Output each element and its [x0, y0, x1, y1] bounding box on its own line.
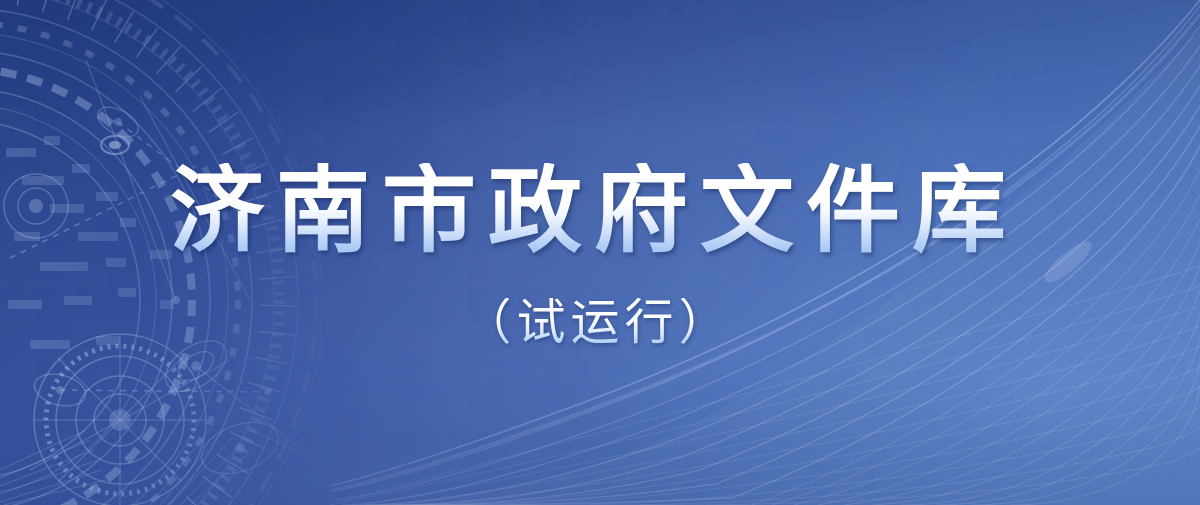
title-wrapper: 济南市政府文件库: [170, 163, 1030, 262]
page-subtitle: （试运行）: [462, 298, 737, 347]
government-document-library-banner: 济南市政府文件库 （试运行）: [0, 0, 1200, 505]
page-title: 济南市政府文件库: [170, 163, 1030, 262]
banner-text-block: 济南市政府文件库 （试运行）: [0, 0, 1200, 505]
